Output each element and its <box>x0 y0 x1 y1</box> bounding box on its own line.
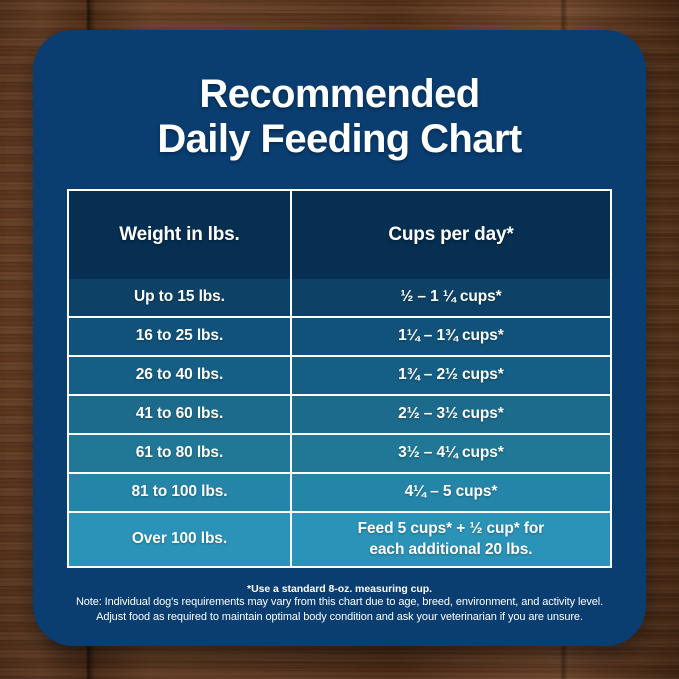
page-title: Recommended Daily Feeding Chart <box>67 72 612 162</box>
table-row: 16 to 25 lbs. 1¼ – 1¾ cups* <box>69 318 610 357</box>
cell-weight: 41 to 60 lbs. <box>69 396 292 435</box>
table-row: Over 100 lbs. Feed 5 cups* + ½ cup* for … <box>69 513 610 566</box>
cell-cups-line-2: each additional 20 lbs. <box>292 539 610 560</box>
cell-weight: 26 to 40 lbs. <box>69 357 292 396</box>
cell-weight: Up to 15 lbs. <box>69 279 292 318</box>
table-row: 41 to 60 lbs. 2½ – 3½ cups* <box>69 396 610 435</box>
feeding-table: Weight in lbs. Cups per day* Up to 15 lb… <box>67 189 612 568</box>
cell-weight: 61 to 80 lbs. <box>69 435 292 474</box>
column-header-cups: Cups per day* <box>292 191 610 279</box>
table-row: Up to 15 lbs. ½ – 1 ¼ cups* <box>69 279 610 318</box>
column-header-weight: Weight in lbs. <box>69 191 292 279</box>
page-title-line-2: Daily Feeding Chart <box>81 117 598 162</box>
table-row: 81 to 100 lbs. 4¼ – 5 cups* <box>69 474 610 513</box>
table-row: 26 to 40 lbs. 1¾ – 2½ cups* <box>69 357 610 396</box>
cell-weight: 81 to 100 lbs. <box>69 474 292 513</box>
cell-cups: 2½ – 3½ cups* <box>292 396 610 435</box>
cell-cups: ½ – 1 ¼ cups* <box>292 279 610 318</box>
table-header: Weight in lbs. Cups per day* <box>69 191 610 279</box>
page-title-line-1: Recommended <box>81 72 598 117</box>
cell-cups-line-1: Feed 5 cups* + ½ cup* for <box>292 518 610 539</box>
feeding-chart-card: Recommended Daily Feeding Chart Weight i… <box>33 30 646 646</box>
table-header-row: Weight in lbs. Cups per day* <box>69 191 610 279</box>
cell-weight: 16 to 25 lbs. <box>69 318 292 357</box>
footnotes: *Use a standard 8-oz. measuring cup. Not… <box>67 583 612 626</box>
cell-cups: 4¼ – 5 cups* <box>292 474 610 513</box>
cell-cups: Feed 5 cups* + ½ cup* for each additiona… <box>292 513 610 566</box>
cell-cups: 1¾ – 2½ cups* <box>292 357 610 396</box>
footnote-measuring-cup: *Use a standard 8-oz. measuring cup. <box>67 583 612 595</box>
table-row: 61 to 80 lbs. 3½ – 4¼ cups* <box>69 435 610 474</box>
table-body: Up to 15 lbs. ½ – 1 ¼ cups* 16 to 25 lbs… <box>69 279 610 566</box>
footnote-note-line-1: Note: Individual dog's requirements may … <box>67 595 612 611</box>
cell-weight: Over 100 lbs. <box>69 513 292 566</box>
footnote-note-line-2: Adjust food as required to maintain opti… <box>67 610 612 626</box>
cell-cups: 1¼ – 1¾ cups* <box>292 318 610 357</box>
cell-cups: 3½ – 4¼ cups* <box>292 435 610 474</box>
